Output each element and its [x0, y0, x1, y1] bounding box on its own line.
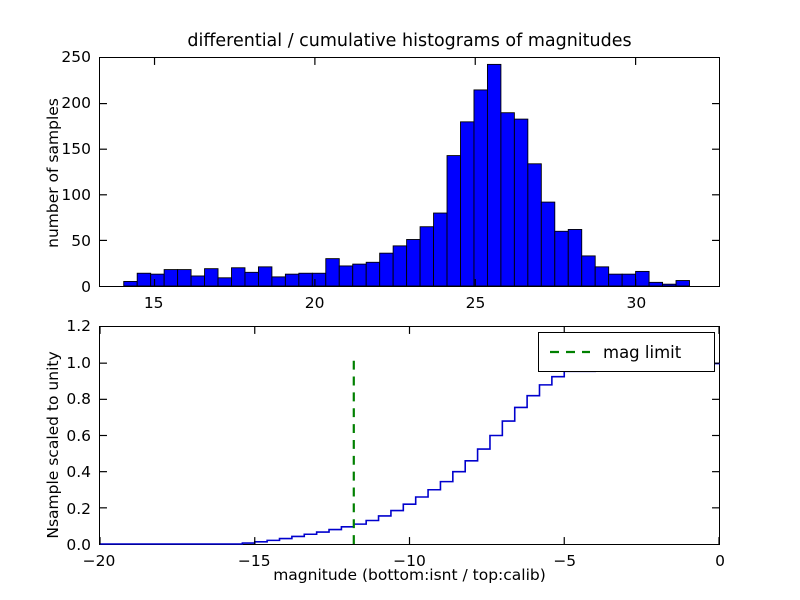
histogram-bar: [528, 164, 541, 286]
bottom-panel-y-tick-label: 0.4: [0, 463, 91, 481]
histogram-bar: [245, 272, 258, 286]
histogram-bar: [595, 267, 608, 286]
histogram-bar: [285, 274, 298, 286]
top-panel-y-axis-label: number of samples: [44, 58, 62, 288]
histogram-bar: [137, 273, 150, 286]
histogram-bar: [353, 264, 366, 286]
histogram-bar: [205, 269, 218, 286]
top-panel-x-tick-label: 20: [305, 294, 325, 312]
top-panel-x-tick-label: 30: [626, 294, 646, 312]
chart-title: differential / cumulative histograms of …: [99, 31, 720, 51]
histogram-bar: [622, 274, 635, 286]
bottom-panel-y-tick-label: 0.2: [0, 500, 91, 518]
bottom-panel-y-tick-label: 0.0: [0, 536, 91, 554]
mag-limit-dashed-line-icon: [549, 345, 591, 359]
histogram-bar: [231, 268, 244, 286]
histogram-bar: [676, 281, 689, 286]
histogram-bar: [272, 277, 285, 286]
histogram-bar: [164, 270, 177, 286]
histogram-bar: [460, 122, 473, 286]
histogram-bar: [218, 278, 231, 286]
histogram-bar: [487, 64, 500, 286]
histogram-bar: [582, 256, 595, 286]
top-panel-y-tick-label: 0: [0, 278, 91, 296]
histogram-bar: [420, 227, 433, 286]
figure-canvas: differential / cumulative histograms of …: [0, 0, 800, 600]
histogram-plot-area: [100, 58, 719, 286]
histogram-bar: [568, 229, 581, 286]
histogram-bar: [191, 276, 204, 286]
histogram-bar: [339, 266, 352, 286]
top-panel-x-tick-label: 15: [144, 294, 164, 312]
histogram-bar: [555, 231, 568, 286]
bottom-panel-y-tick-label: 0.6: [0, 427, 91, 445]
bottom-panel-y-tick-label: 1.0: [0, 354, 91, 372]
bottom-panel-y-tick-label: 1.2: [0, 317, 91, 335]
histogram-bar: [124, 281, 137, 286]
legend: mag limit: [538, 332, 715, 372]
top-panel-y-tick-label: 250: [0, 48, 91, 66]
histogram-bar: [407, 239, 420, 286]
histogram-bar: [434, 213, 447, 286]
histogram-bar: [299, 273, 312, 286]
histogram-bar: [178, 270, 191, 286]
top-panel-y-tick-label: 150: [0, 140, 91, 158]
histogram-bar: [151, 274, 164, 286]
histogram-bar: [609, 274, 622, 286]
histogram-bar: [380, 253, 393, 286]
histogram-bar: [393, 246, 406, 286]
histogram-bar: [514, 119, 527, 286]
cumulative-curve: [100, 363, 719, 544]
top-panel-histogram: [99, 57, 720, 287]
histogram-bar: [636, 271, 649, 286]
top-panel-y-tick-label: 200: [0, 94, 91, 112]
legend-label-mag-limit: mag limit: [603, 343, 681, 362]
histogram-bar: [501, 113, 514, 286]
histogram-bar: [649, 282, 662, 286]
histogram-bar: [474, 90, 487, 286]
histogram-bar: [366, 262, 379, 286]
histogram-bar: [541, 202, 554, 286]
top-panel-y-tick-label: 50: [0, 232, 91, 250]
histogram-bar: [663, 284, 676, 286]
histogram-bar: [258, 267, 271, 286]
bottom-panel-x-axis-label: magnitude (bottom:isnt / top:calib): [99, 566, 720, 584]
bottom-panel-y-tick-label: 0.8: [0, 390, 91, 408]
top-panel-y-tick-label: 100: [0, 186, 91, 204]
histogram-bar: [447, 156, 460, 286]
histogram-bar: [326, 259, 339, 286]
top-panel-x-tick-label: 25: [466, 294, 486, 312]
